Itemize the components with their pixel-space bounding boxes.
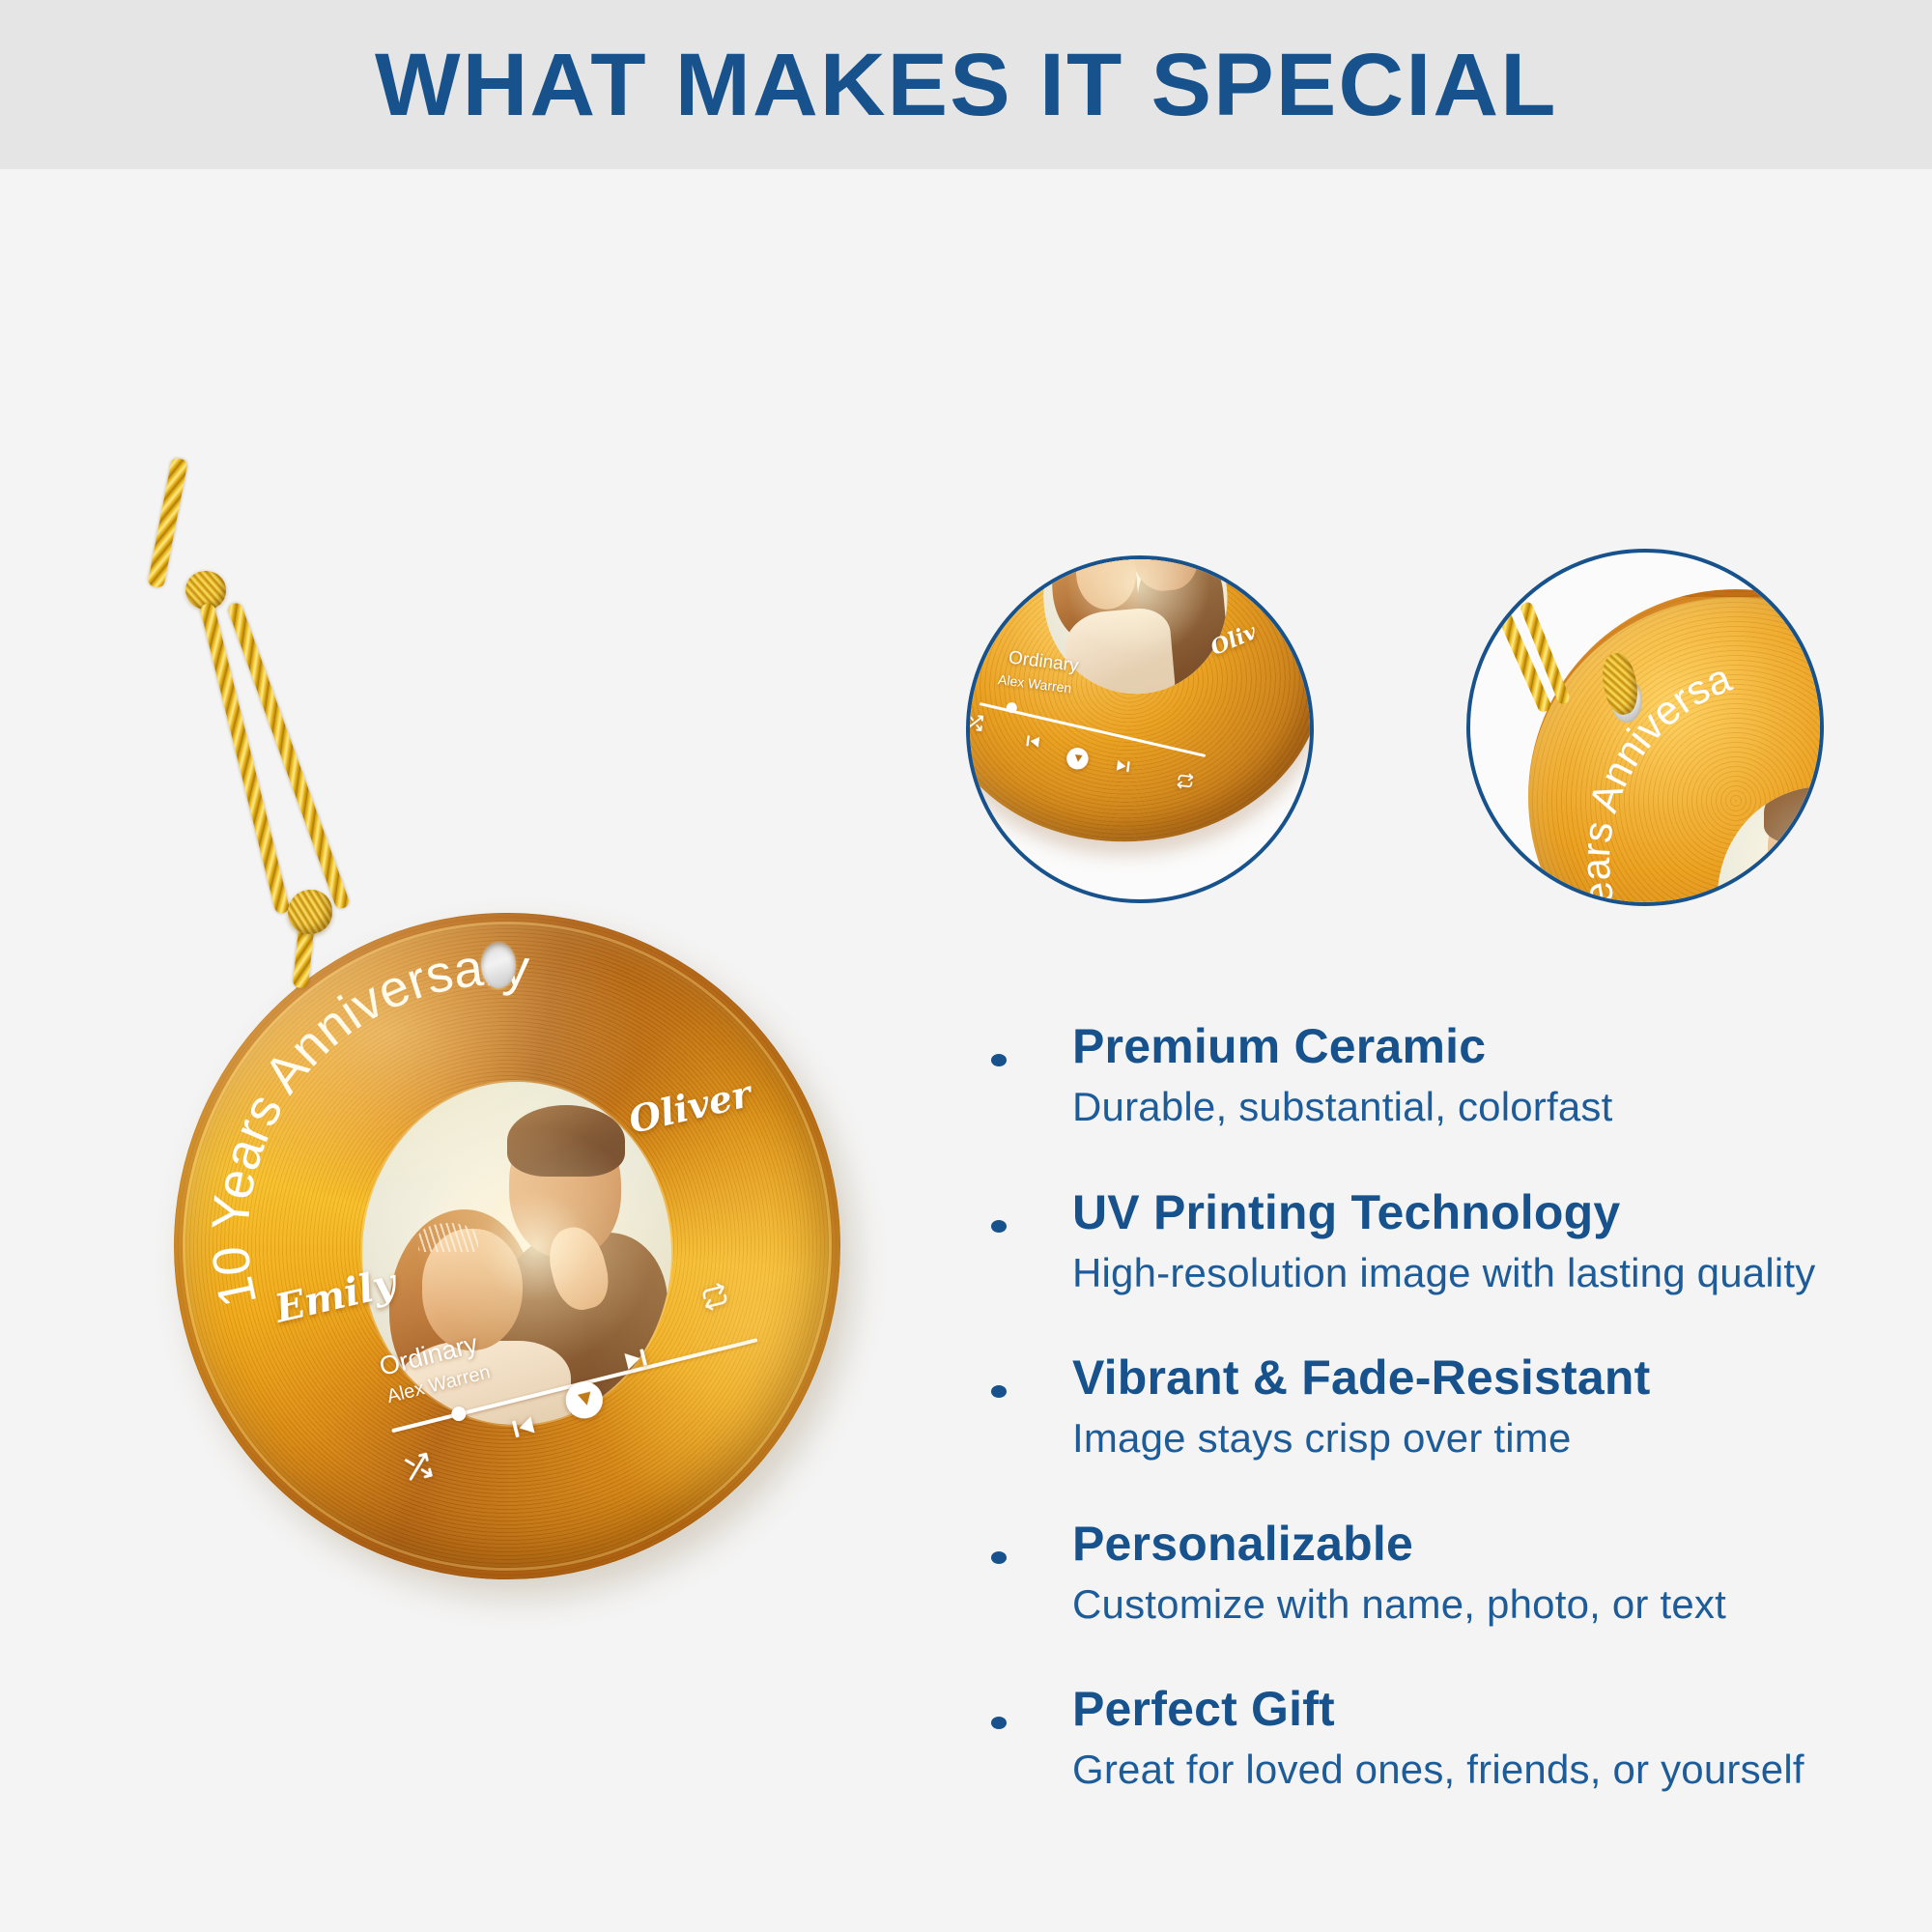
bullet-icon (991, 1551, 1007, 1564)
play-icon (557, 1373, 612, 1432)
feature-item-personalizable: Personalizable Customize with name, phot… (985, 1517, 1893, 1629)
feature-description: Great for loved ones, friends, or yourse… (1072, 1746, 1893, 1794)
feature-title: UV Printing Technology (1072, 1185, 1893, 1239)
repeat-icon (698, 1280, 732, 1318)
previous-track-icon (506, 1409, 543, 1449)
cord-strand-top (147, 457, 187, 588)
callout-player-detail: mily Oliv Ordinary Alex Warren (966, 555, 1314, 903)
callout2-disc: 10 Years Anniversa (1528, 589, 1824, 906)
feature-item-premium-ceramic: Premium Ceramic Durable, substantial, co… (985, 1019, 1893, 1131)
progress-knob (450, 1405, 468, 1422)
feature-description: Customize with name, photo, or text (1072, 1580, 1893, 1629)
next-track-icon (1113, 756, 1134, 781)
repeat-icon (1175, 772, 1195, 796)
feature-description: High-resolution image with lasting quali… (1072, 1249, 1893, 1297)
feature-description: Durable, substantial, colorfast (1072, 1083, 1893, 1131)
callout-cord-detail: 10 Years Anniversa (1466, 549, 1824, 906)
callout1-name-left: mily (966, 555, 989, 599)
feature-title: Premium Ceramic (1072, 1019, 1893, 1073)
bullet-icon (991, 1054, 1007, 1066)
hero-ornament: 10 Years Anniversary Emily Oliver Ordina… (145, 440, 937, 1792)
arc-text-label: 10 Years Anniversary (202, 938, 531, 1312)
shuffle-icon (400, 1450, 437, 1490)
bullet-icon (991, 1717, 1007, 1729)
feature-title: Personalizable (1072, 1517, 1893, 1571)
feature-item-perfect-gift: Perfect Gift Great for loved ones, frien… (985, 1682, 1893, 1794)
bullet-icon (991, 1385, 1007, 1398)
feature-list: Premium Ceramic Durable, substantial, co… (985, 1019, 1893, 1794)
hanging-cord (145, 440, 531, 980)
shuffle-icon (966, 712, 985, 737)
bullet-icon (991, 1220, 1007, 1233)
product-showcase-stage: 10 Years Anniversary Emily Oliver Ordina… (0, 169, 1932, 1932)
header-band: WHAT MAKES IT SPECIAL (0, 0, 1932, 169)
feature-title: Perfect Gift (1072, 1682, 1893, 1736)
svg-text:10 Years Anniversary: 10 Years Anniversary (202, 938, 531, 1312)
next-track-icon (618, 1342, 655, 1381)
page-title: WHAT MAKES IT SPECIAL (375, 41, 1558, 129)
feature-title: Vibrant & Fade-Resistant (1072, 1350, 1893, 1405)
callout1-disc: mily Oliv Ordinary Alex Warren (966, 555, 1314, 858)
play-icon (1063, 744, 1093, 778)
record-ornament-disc: 10 Years Anniversary Emily Oliver Ordina… (174, 913, 840, 1579)
feature-description: Image stays crisp over time (1072, 1414, 1893, 1463)
feature-item-vibrant-fade-resistant: Vibrant & Fade-Resistant Image stays cri… (985, 1350, 1893, 1463)
feature-item-uv-printing-technology: UV Printing Technology High-resolution i… (985, 1185, 1893, 1297)
cord-knot-bottom (288, 890, 332, 934)
hanging-hole (481, 942, 516, 988)
previous-track-icon (1022, 731, 1043, 756)
